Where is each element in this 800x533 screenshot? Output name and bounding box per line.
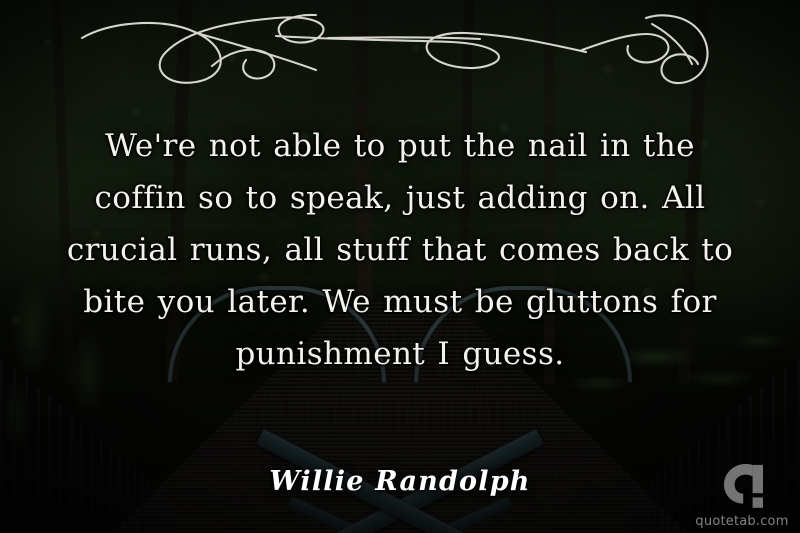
quotetab-q-logo-icon bbox=[715, 459, 769, 513]
quote-line: crucial runs, all stuff that comes back … bbox=[67, 232, 733, 268]
card-content: We're not able to put the nail in the co… bbox=[0, 0, 800, 533]
quote-line: punishment I guess. bbox=[235, 336, 564, 372]
watermark-site-text: quotetab.com bbox=[690, 514, 794, 529]
flourish-divider-icon bbox=[80, 8, 720, 92]
quote-line: coffin so to speak, just adding on. All bbox=[95, 180, 706, 216]
quote-line: We're not able to put the nail in the bbox=[105, 128, 695, 164]
quote-line: bite you later. We must be gluttons for bbox=[83, 284, 716, 320]
quote-text: We're not able to put the nail in the co… bbox=[50, 120, 750, 380]
watermark[interactable]: quotetab.com bbox=[690, 459, 794, 529]
quote-image-card: We're not able to put the nail in the co… bbox=[0, 0, 800, 533]
author-name: Willie Randolph bbox=[0, 466, 800, 497]
